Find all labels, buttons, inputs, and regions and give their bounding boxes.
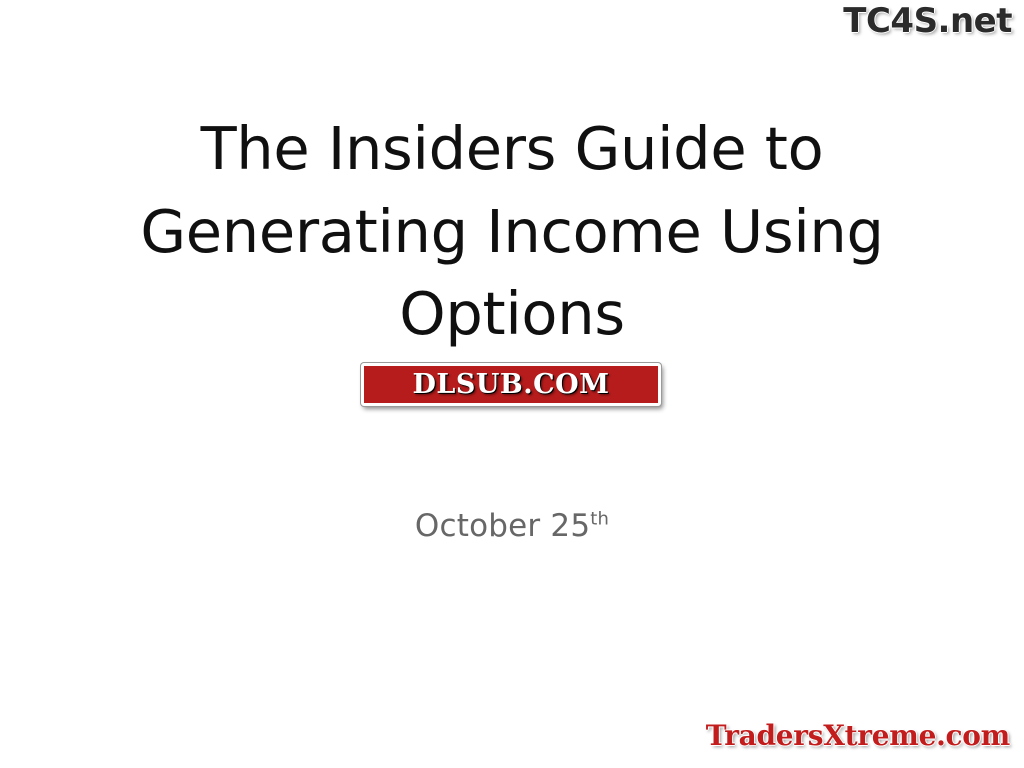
slide-subtitle-date: October 25 xyxy=(415,508,590,544)
slide-subtitle: October 25th xyxy=(62,508,962,544)
slide-title-line-1: The Insiders Guide to xyxy=(62,108,962,191)
dlsub-watermark-stamp: DLSUB.COM xyxy=(361,363,661,406)
slide-title: The Insiders Guide to Generating Income … xyxy=(62,108,962,356)
slide-subtitle-ordinal: th xyxy=(590,509,609,530)
slide-title-line-3: Options xyxy=(62,273,962,356)
slide-title-line-2: Generating Income Using xyxy=(62,191,962,274)
tc4s-watermark: TC4S.net xyxy=(843,4,1012,40)
tradersxtreme-watermark: TradersXtreme.com xyxy=(706,719,1010,752)
dlsub-watermark-label: DLSUB.COM xyxy=(412,369,609,400)
